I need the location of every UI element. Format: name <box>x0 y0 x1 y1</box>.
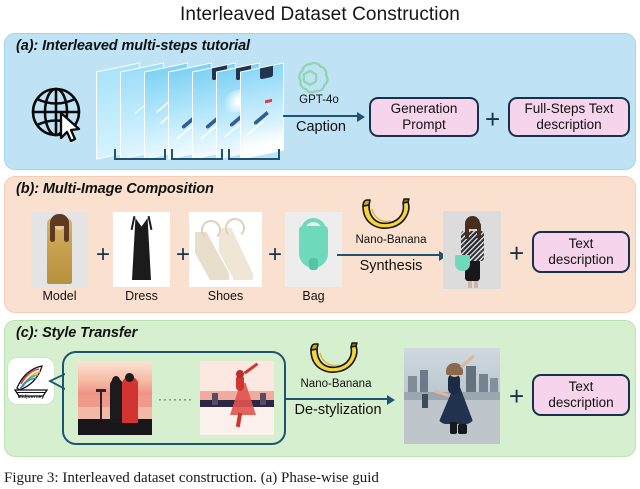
figure-root: Interleaved Dataset Construction (a): In… <box>0 0 640 489</box>
panel-b-plus-3: + <box>268 243 282 267</box>
panel-c-arrow-top-label: Nano-Banana <box>288 378 384 390</box>
figure-caption: Figure 3: Interleaved dataset constructi… <box>4 470 636 487</box>
panel-c-text-description-box[interactable]: Text description <box>532 374 630 416</box>
composed-outfit-image <box>443 211 501 289</box>
input-label-shoes: Shoes <box>189 289 262 303</box>
panel-b-label: (b): Multi-Image Composition <box>16 181 214 197</box>
input-photo-bag <box>285 212 342 287</box>
panel-a-arrow-bottom-label: Caption <box>284 119 358 135</box>
panel-c-arrow-line <box>285 398 389 400</box>
panel-a-arrow-line <box>283 115 359 117</box>
banana-icon <box>306 340 362 378</box>
stylized-ballerina-red-image <box>200 361 274 435</box>
input-label-bag: Bag <box>285 289 342 303</box>
panel-b-plus-2: + <box>176 243 190 267</box>
globe-cursor-icon <box>26 84 90 142</box>
panel-c-arrow-bottom-label: De-stylization <box>284 402 392 418</box>
generation-prompt-box[interactable]: Generation Prompt <box>369 97 479 137</box>
tutorial-step-card <box>240 62 284 159</box>
panel-b-arrow-line <box>337 254 441 256</box>
ellipsis-label: ······· <box>158 392 193 406</box>
destylized-dancer-image <box>404 348 500 444</box>
input-photo-dress <box>113 212 170 287</box>
panel-c-plus-symbol: + <box>509 383 524 409</box>
input-label-dress: Dress <box>113 289 170 303</box>
tutorial-step-brackets <box>114 149 284 163</box>
input-photo-model <box>31 212 88 287</box>
figure-title: Interleaved Dataset Construction <box>0 2 640 28</box>
panel-b-plus-1: + <box>96 243 110 267</box>
panel-b-arrow-top-label: Nano-Banana <box>343 234 439 246</box>
panel-a-label: (a): Interleaved multi-steps tutorial <box>16 38 250 54</box>
banana-icon <box>358 196 414 234</box>
stylized-couple-sunset-image <box>78 361 152 435</box>
openai-gpt4o-icon <box>291 58 329 96</box>
panel-a-plus-symbol: + <box>485 106 500 132</box>
panel-a-arrow-top-label: GPT-4o <box>288 94 350 106</box>
panel-a-arrow-head <box>357 112 365 122</box>
panel-b-plus-symbol: + <box>509 240 524 266</box>
midjourney-icon-label: Midjourney <box>8 394 54 399</box>
full-steps-text-box[interactable]: Full-Steps Text description <box>508 97 630 137</box>
input-photo-shoes <box>189 212 262 287</box>
panel-b-text-description-box[interactable]: Text description <box>532 231 630 273</box>
input-label-model: Model <box>31 289 88 303</box>
panel-b-arrow-bottom-label: Synthesis <box>341 258 441 274</box>
panel-c-label: (c): Style Transfer <box>16 325 137 341</box>
